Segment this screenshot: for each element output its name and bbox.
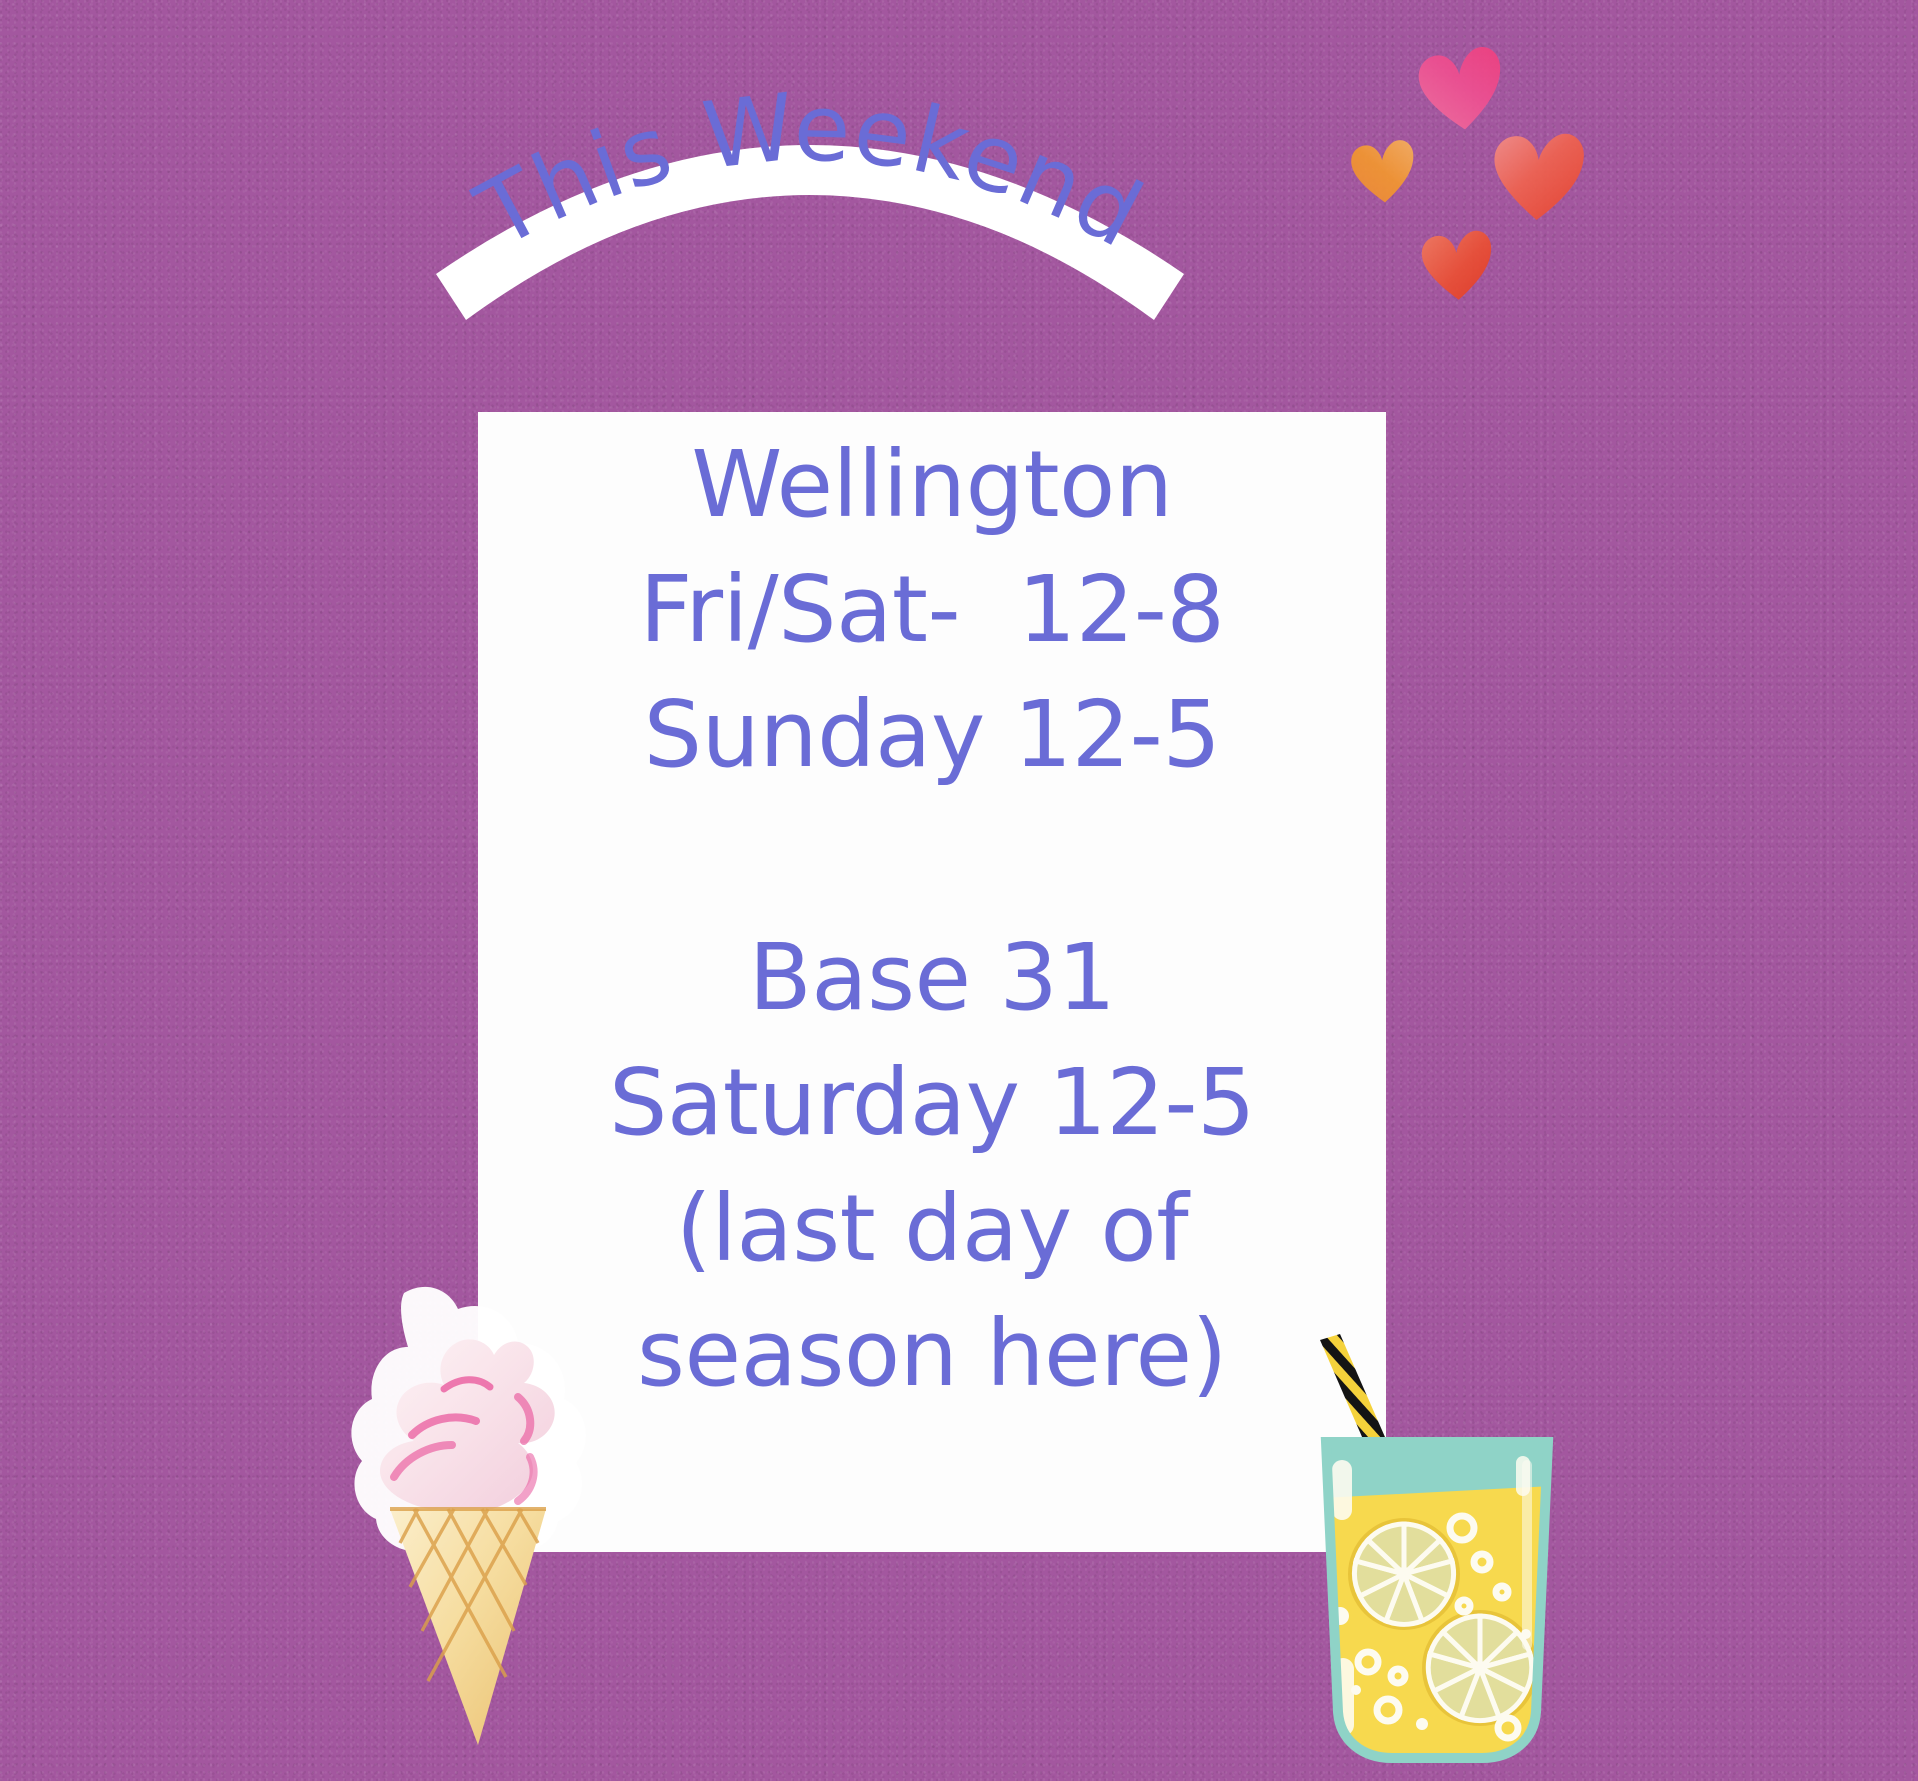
card-line-frisat-hours: Fri/Sat- 12-8 [640, 547, 1225, 672]
heart-orange-icon [1346, 136, 1421, 211]
card-line-base31: Base 31 [749, 915, 1116, 1040]
lemon-slice-1 [1348, 1518, 1460, 1630]
lemon-slice-2 [1422, 1610, 1538, 1726]
poster-canvas: This Weekend [0, 0, 1918, 1781]
card-line-last-day-1: (last day of [676, 1166, 1188, 1291]
lemonade-glass-icon [1296, 1330, 1636, 1781]
heart-red-small-icon [1416, 226, 1498, 308]
card-line-last-day-2: season here) [637, 1291, 1227, 1416]
card-line-saturday-hours: Saturday 12-5 [609, 1040, 1255, 1165]
card-line-wellington: Wellington [691, 422, 1172, 547]
heart-red-large-icon [1486, 126, 1589, 229]
ice-cream-cone-icon [318, 1285, 618, 1781]
this-weekend-banner: This Weekend [430, 30, 1190, 320]
card-line-sunday-hours: Sunday 12-5 [644, 672, 1221, 797]
